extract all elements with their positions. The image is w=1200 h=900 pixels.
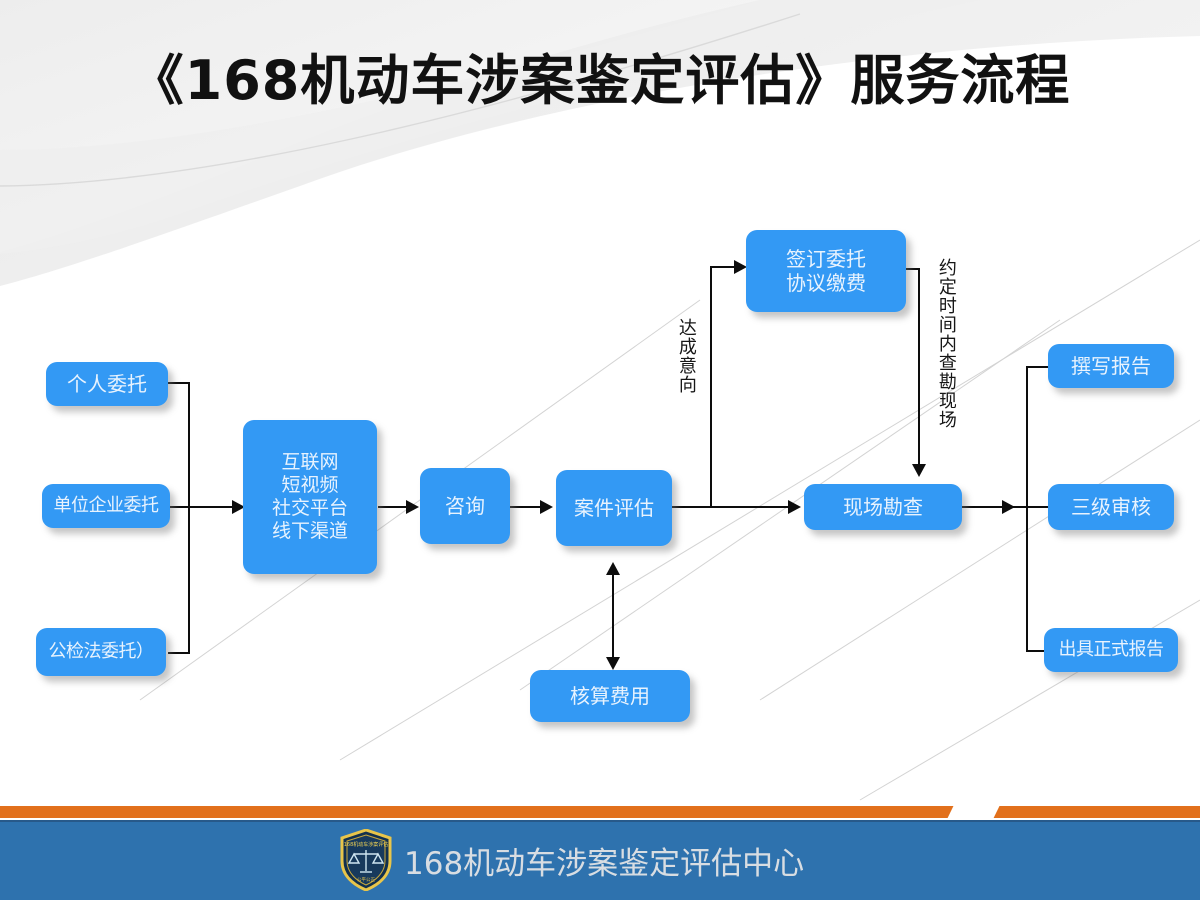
footer-content: 168机动车涉案评估 公平公正 168机动车涉案鉴定评估中心 — [340, 824, 804, 896]
footer-orange-stripe — [0, 806, 1200, 818]
footer-stripe-notch — [948, 800, 1003, 818]
connector-case-cost — [612, 566, 614, 668]
footer-org-name: 168机动车涉案鉴定评估中心 — [404, 838, 804, 883]
arrow-to-site-survey — [788, 500, 801, 514]
connector-case-to-survey — [672, 506, 796, 508]
connector-right-bus — [1026, 366, 1028, 652]
page-title: 《168机动车涉案鉴定评估》服务流程 — [0, 36, 1200, 115]
connector-consult-case — [510, 506, 544, 508]
connector-branch-up — [710, 266, 712, 507]
connector-agreement-down — [918, 268, 920, 468]
node-channel[interactable]: 互联网 短视频 社交平台 线下渠道 — [243, 420, 377, 574]
node-source-individual[interactable]: 个人委托 — [46, 362, 168, 406]
node-source-company[interactable]: 单位企业委托 — [42, 484, 170, 528]
arrow-down-to-cost-calc — [606, 657, 620, 670]
connector-bus-out2 — [1012, 506, 1050, 508]
slide-canvas: 《168机动车涉案鉴定评估》服务流程 达成意向 约定时间内查勘现场 个人委托 单… — [0, 0, 1200, 900]
arrow-up-to-case-eval — [606, 562, 620, 575]
background-decoration — [0, 0, 1200, 900]
node-output-three-level-review[interactable]: 三级审核 — [1048, 484, 1174, 530]
node-output-write-report[interactable]: 撰写报告 — [1048, 344, 1174, 388]
node-site-survey[interactable]: 现场勘查 — [804, 484, 962, 530]
arrow-down-to-site-survey — [912, 464, 926, 477]
arrow-to-case-eval — [540, 500, 553, 514]
connector-bus-to-channel — [168, 506, 236, 508]
edge-label-intent: 达成意向 — [676, 318, 695, 394]
connector-left-bus — [188, 382, 190, 654]
node-consult[interactable]: 咨询 — [420, 468, 510, 544]
node-cost-calc[interactable]: 核算费用 — [530, 670, 690, 722]
node-agreement[interactable]: 签订委托 协议缴费 — [746, 230, 906, 312]
node-output-formal-report[interactable]: 出具正式报告 — [1044, 628, 1178, 672]
svg-text:公平公正: 公平公正 — [357, 877, 375, 883]
node-case-eval[interactable]: 案件评估 — [556, 470, 672, 546]
svg-text:168机动车涉案评估: 168机动车涉案评估 — [344, 841, 389, 848]
shield-scales-logo-icon: 168机动车涉案评估 公平公正 — [340, 829, 392, 891]
edge-label-schedule: 约定时间内查勘现场 — [936, 258, 955, 429]
arrow-to-consult — [406, 500, 419, 514]
connector-bus-out1 — [1026, 366, 1050, 368]
connector-source1-h — [168, 382, 190, 384]
node-source-law[interactable]: 公检法委托） — [36, 628, 166, 676]
connector-source3-h — [168, 652, 190, 654]
